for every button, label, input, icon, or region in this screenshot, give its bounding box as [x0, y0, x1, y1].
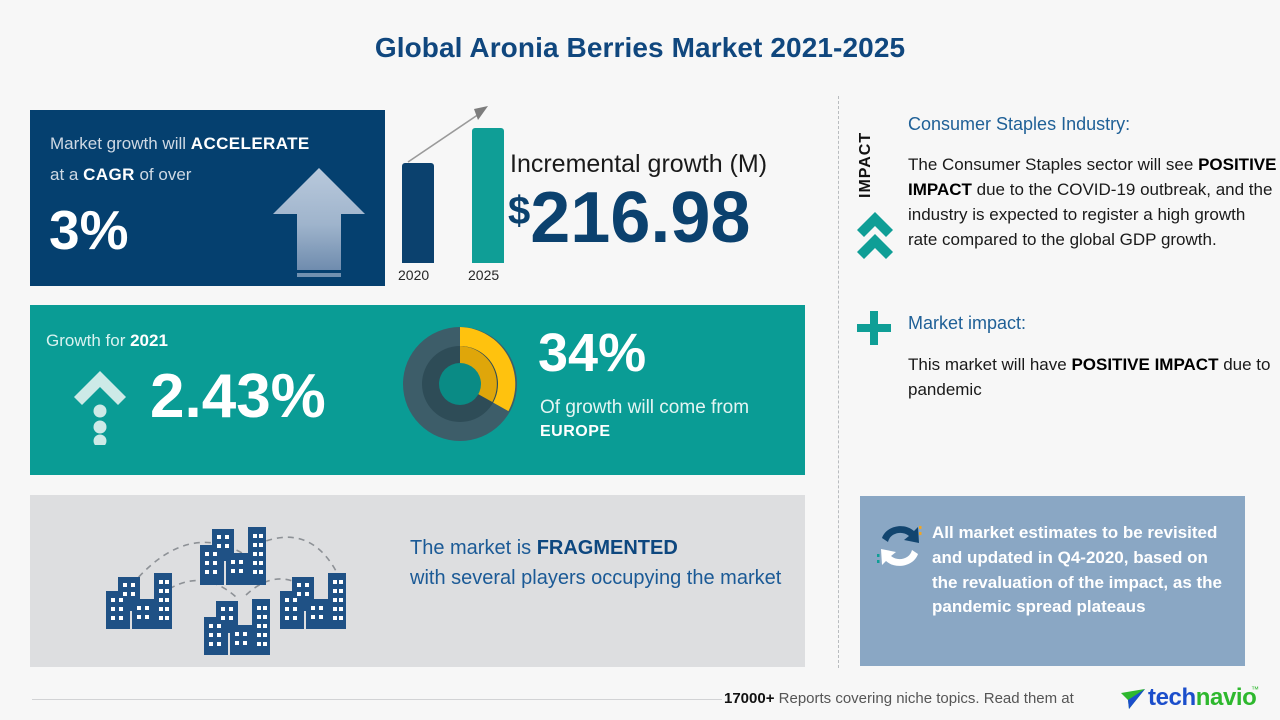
fragmented-prefix: The market is [410, 537, 537, 559]
double-chevron-up-icon [856, 210, 894, 262]
page-title: Global Aronia Berries Market 2021-2025 [0, 32, 1280, 64]
incremental-growth-chart: 2020 2025 Incremental growth (M) $216.98 [390, 100, 810, 290]
bar-2020 [402, 163, 434, 263]
fragmented-suffix: with several players occupying the marke… [410, 567, 781, 589]
bar-label-2025: 2025 [468, 267, 499, 283]
logo-text-part2: navio [1196, 684, 1257, 711]
cagr-line-1: Market growth will ACCELERATE [50, 134, 310, 154]
cagr-panel: Market growth will ACCELERATE at a CAGR … [30, 110, 385, 286]
footer-report-count: 17000+ [724, 690, 774, 707]
refresh-cycle-icon [872, 520, 928, 572]
footer-text: 17000+ Reports covering niche topics. Re… [724, 690, 1074, 707]
technavio-arrow-icon [1120, 687, 1146, 711]
footer-divider [32, 699, 722, 700]
revaluation-note-text: All market estimates to be revisited and… [932, 521, 1232, 620]
cagr-line2-bold: CAGR [83, 165, 135, 184]
growth-panel-heading: Growth for 2021 [46, 331, 168, 351]
up-arrow-icon [271, 166, 367, 278]
technavio-wordmark: technavio [1148, 684, 1256, 712]
europe-share-donut-chart [400, 324, 520, 444]
fragmented-bold: FRAGMENTED [537, 537, 678, 559]
city-buildings-icon [60, 495, 400, 667]
impact-section-1-heading: Consumer Staples Industry: [908, 114, 1130, 135]
bar-label-2020: 2020 [398, 267, 429, 283]
cagr-line2-suffix: of over [135, 165, 192, 184]
impact-vertical-label: IMPACT [857, 112, 875, 198]
impact-section-1-body: The Consumer Staples sector will see POS… [908, 152, 1278, 253]
impact-section-2-body: This market will have POSITIVE IMPACT du… [908, 352, 1278, 402]
europe-share-region: EUROPE [540, 423, 611, 441]
plus-icon [856, 310, 892, 346]
bar-2025 [472, 128, 504, 263]
europe-share-value: 34% [538, 326, 646, 380]
growth-heading-prefix: Growth for [46, 331, 130, 350]
infographic-canvas: Global Aronia Berries Market 2021-2025 M… [0, 0, 1280, 720]
impact-2-part1: This market will have [908, 355, 1071, 374]
cagr-line2-prefix: at a [50, 165, 83, 184]
cagr-line-2: at a CAGR of over [50, 165, 191, 185]
incremental-growth-value: $216.98 [508, 182, 750, 254]
cagr-line1-prefix: Market growth will [50, 134, 191, 153]
incremental-amount: 216.98 [530, 178, 750, 258]
impact-section-2-heading: Market impact: [908, 313, 1026, 334]
vertical-divider [838, 96, 839, 668]
trademark-symbol: ™ [1251, 685, 1259, 694]
incremental-growth-heading: Incremental growth (M) [510, 150, 767, 179]
growth-value: 2.43% [150, 366, 326, 428]
logo-text-part1: tech [1148, 684, 1196, 711]
growth-heading-year: 2021 [130, 331, 168, 350]
europe-share-subtitle: Of growth will come from [540, 394, 749, 422]
impact-2-bold: POSITIVE IMPACT [1071, 355, 1218, 374]
footer-caption: Reports covering niche topics. Read them… [774, 690, 1073, 707]
fragmented-market-text: The market is FRAGMENTED with several pl… [410, 533, 790, 593]
cagr-value: 3% [49, 203, 129, 258]
cagr-line1-bold: ACCELERATE [191, 134, 310, 153]
currency-symbol: $ [508, 189, 530, 233]
up-chevron-dots-icon [70, 367, 130, 445]
impact-1-part1: The Consumer Staples sector will see [908, 155, 1198, 174]
technavio-logo[interactable]: technavio ™ [1120, 685, 1260, 713]
fragmented-market-panel: The market is FRAGMENTED with several pl… [30, 495, 805, 667]
revaluation-note-box: All market estimates to be revisited and… [860, 496, 1245, 666]
